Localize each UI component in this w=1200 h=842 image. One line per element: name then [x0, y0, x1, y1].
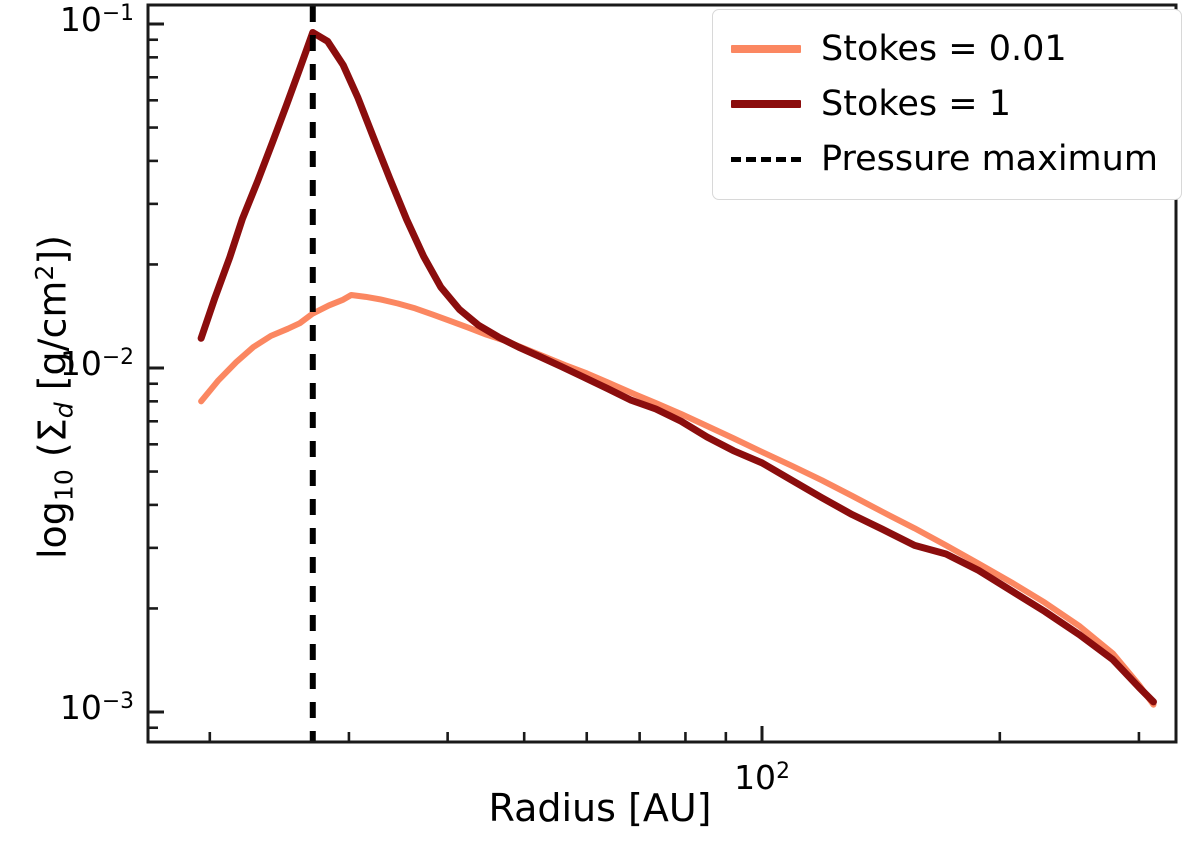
- y-tick-exponent: −1: [102, 1, 134, 26]
- legend-label-stokes-1: Stokes = 1: [821, 84, 1011, 124]
- legend-swatch-pressure-maximum: [727, 131, 805, 186]
- y-tick-exponent: −3: [102, 689, 134, 714]
- y-tick-label-1e-3: 10−3: [60, 688, 134, 727]
- y-tick-base: 10: [60, 344, 102, 383]
- y-tick-label-1e-2: 10−2: [60, 344, 134, 383]
- legend-swatch-stokes-001: [727, 21, 805, 76]
- y-tick-base: 10: [60, 0, 102, 39]
- x-axis-label: Radius [AU]: [0, 786, 1200, 830]
- legend-item-stokes-1[interactable]: Stokes = 1: [727, 76, 1167, 131]
- y-tick-exponent: −2: [102, 345, 134, 370]
- legend-swatch-stokes-1: [727, 76, 805, 131]
- legend-item-stokes-001[interactable]: Stokes = 0.01: [727, 21, 1167, 76]
- y-tick-base: 10: [60, 688, 102, 727]
- x-tick-exponent: 2: [776, 759, 790, 784]
- legend-item-pressure-maximum[interactable]: Pressure maximum: [727, 131, 1167, 186]
- chart-figure: 10−1 10−2 10−3 102 Radius [AU] log10 (Σd…: [0, 0, 1200, 842]
- legend[interactable]: Stokes = 0.01 Stokes = 1 Pressure maximu…: [712, 9, 1182, 200]
- legend-label-stokes-001: Stokes = 0.01: [821, 29, 1067, 69]
- y-tick-label-1e-1: 10−1: [60, 0, 134, 39]
- legend-label-pressure-maximum: Pressure maximum: [821, 139, 1158, 179]
